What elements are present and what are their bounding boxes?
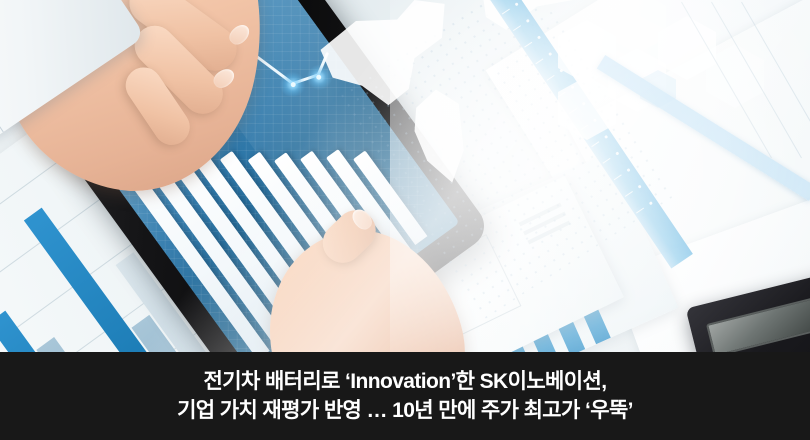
screenshot-root: Category 2 Category 3 Series 1 Series 2 … [0,0,810,440]
calculator-display [706,297,810,352]
caption-line-1: 전기차 배터리로 ‘Innovation’한 SK이노베이션, [204,370,607,393]
caption-line-2: 기업 가치 재평가 반영 … 10년 만에 주가 최고가 ‘우뚝’ [177,399,633,422]
caption-bar: 전기차 배터리로 ‘Innovation’한 SK이노베이션, 기업 가치 재평… [0,352,810,440]
photo-area: Category 2 Category 3 Series 1 Series 2 … [0,0,810,352]
